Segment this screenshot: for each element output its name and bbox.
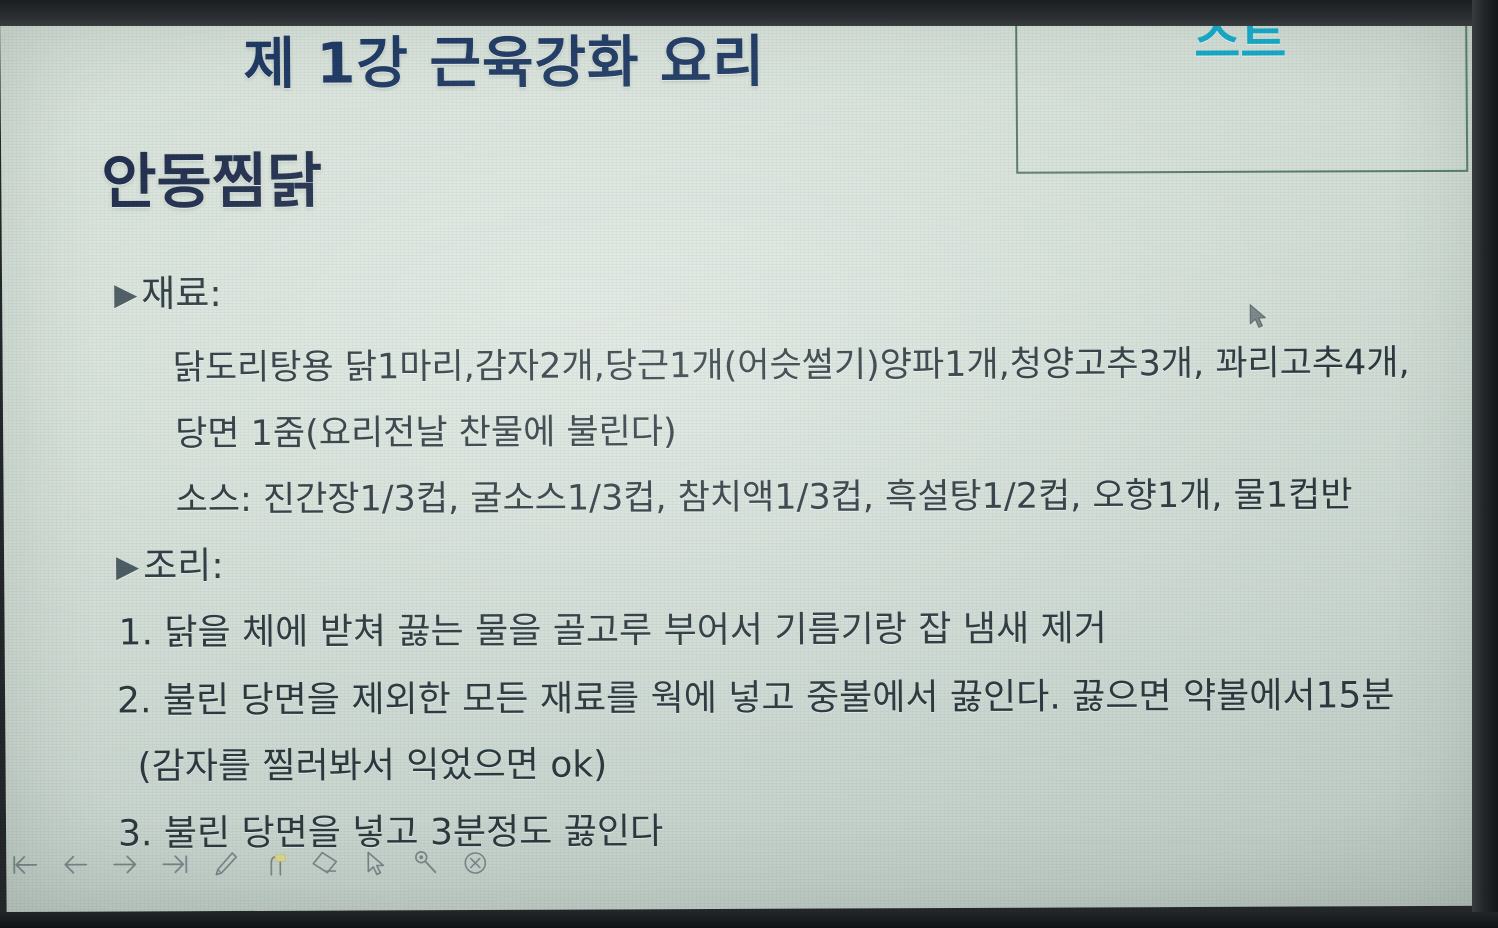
ingredients-heading-label: 재료:: [141, 272, 222, 315]
slide-surface: 제 1강 근육강화 요리 베스트오브베스트 스트 안동찜닭 ▶재료: 닭도리탕용…: [0, 0, 1485, 912]
instructions-heading-label: 조리:: [143, 544, 224, 587]
screen-bezel-top: [0, 0, 1498, 26]
highlighter-icon[interactable]: [258, 847, 292, 881]
instruction-step-2-note: (감자를 찔러봐서 익었으면 ok): [137, 735, 607, 789]
best-of-best-badge-box: 베스트오브베스트 스트: [1015, 0, 1468, 174]
projected-slide-photo: 제 1강 근육강화 요리 베스트오브베스트 스트 안동찜닭 ▶재료: 닭도리탕용…: [0, 0, 1498, 928]
presenter-toolbar[interactable]: [0, 842, 500, 886]
ingredient-line-3-sauce: 소스: 진간장1/3컵, 굴소스1/3컵, 참치액1/3컵, 흑설탕1/2컵, …: [175, 466, 1352, 522]
triangle-bullet-icon: ▶: [116, 549, 139, 584]
next-slide-icon[interactable]: [108, 847, 142, 881]
recipe-name-heading: 안동찜닭: [101, 133, 322, 221]
close-icon[interactable]: [458, 846, 492, 880]
screen-bezel-bottom: [0, 912, 1498, 928]
pen-icon[interactable]: [208, 847, 242, 881]
mouse-pointer-icon: [1248, 304, 1270, 330]
first-slide-icon[interactable]: [8, 848, 42, 882]
instructions-heading: ▶조리:: [116, 535, 224, 589]
previous-slide-icon[interactable]: [58, 848, 92, 882]
instruction-step-2: 2. 불린 당면을 제외한 모든 재료를 웍에 넣고 중불에서 끓인다. 끓으면…: [117, 666, 1395, 723]
slide-title: 제 1강 근육강화 요리: [243, 16, 944, 100]
ingredient-line-2: 당면 1줌(요리전날 찬물에 불린다): [175, 403, 677, 456]
pointer-icon[interactable]: [358, 846, 392, 880]
magnifier-icon[interactable]: [408, 846, 442, 880]
instruction-step-1: 1. 닭을 체에 받쳐 끓는 물을 골고루 부어서 기름기랑 잡 냄새 제거: [118, 599, 1107, 655]
slide-body: ▶재료: 닭도리탕용 닭1마리,감자2개,당근1개(어슷썰기)양파1개,청양고추…: [2, 258, 1480, 264]
eraser-icon[interactable]: [308, 847, 342, 881]
ingredients-heading: ▶재료:: [114, 263, 222, 317]
last-slide-icon[interactable]: [158, 847, 192, 881]
ingredient-line-1: 닭도리탕용 닭1마리,감자2개,당근1개(어슷썰기)양파1개,청양고추3개, 꽈…: [172, 334, 1409, 390]
screen-bezel-right: [1472, 0, 1498, 928]
triangle-bullet-icon: ▶: [114, 277, 137, 312]
